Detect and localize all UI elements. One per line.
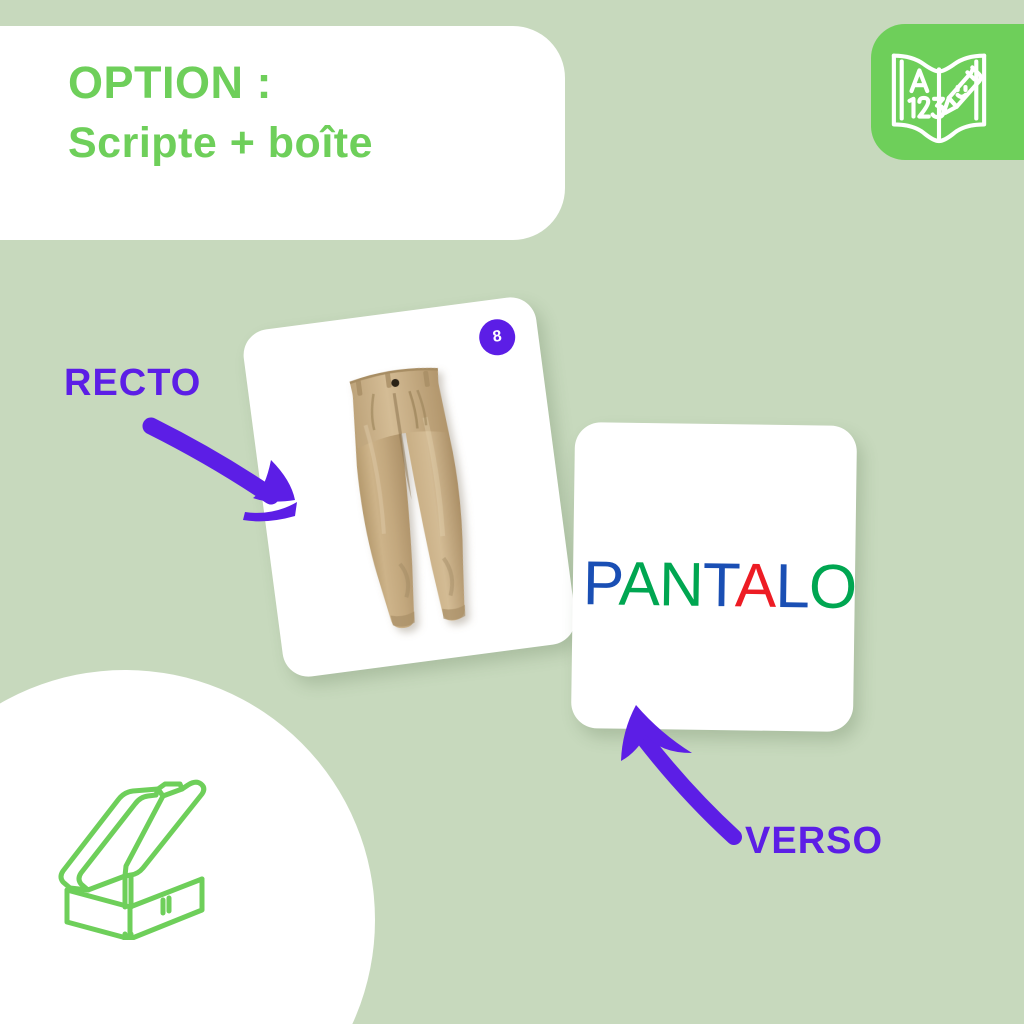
verso-letter-7: N: [856, 553, 857, 623]
verso-letter-5: L: [775, 552, 809, 621]
header-title-line1: OPTION :: [68, 57, 538, 109]
verso-letter-3: T: [702, 551, 735, 620]
verso-word: PANTALON: [582, 553, 857, 620]
book-abc-pencil-badge: [871, 24, 1024, 160]
verso-letter-4: A: [735, 551, 776, 621]
khaki-chino-pants-photo: [310, 321, 509, 651]
header-text-block: OPTION : Scripte + boîte: [68, 57, 538, 169]
poster-stage: OPTION : Scripte + boîte: [0, 0, 1024, 1024]
header-title-line2: Scripte + boîte: [68, 117, 538, 169]
open-lunch-box-icon: [30, 740, 280, 940]
verso-letter-2: N: [659, 550, 704, 620]
label-recto: RECTO: [64, 362, 201, 405]
card-number-badge: 8: [477, 317, 517, 357]
card-verso[interactable]: PANTALON: [571, 422, 857, 732]
label-verso: VERSO: [745, 820, 883, 863]
arrow-to-recto-icon: [145, 420, 330, 530]
verso-letter-6: O: [808, 552, 856, 622]
verso-letter-0: P: [582, 549, 619, 618]
verso-letter-1: A: [618, 550, 659, 620]
arrow-to-verso-icon: [600, 695, 750, 845]
